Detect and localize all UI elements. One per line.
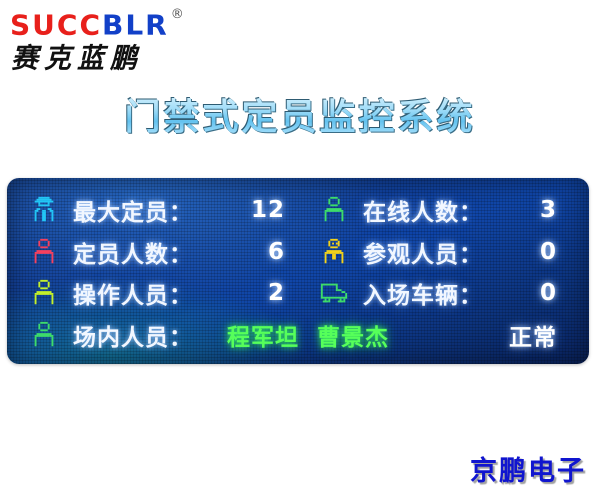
led-value: 6 (268, 239, 285, 265)
footer-company-name: 京鹏电子 (470, 449, 586, 488)
led-label: 定员人数： (73, 235, 193, 269)
led-value: 3 (540, 197, 557, 223)
led-cell-vehicle-count: 入场车辆： 0 (307, 274, 579, 312)
brand-wordmark-red: SUCC (10, 8, 102, 41)
person-icon (29, 320, 59, 350)
table-row: 定员人数： 6 参观人员： 0 (17, 233, 579, 271)
led-value: 12 (251, 197, 285, 223)
status-badge: 正常 (509, 318, 557, 352)
led-cell-visitor-count: 参观人员： 0 (307, 233, 579, 271)
led-cell-max-capacity: 最大定员： 12 (17, 191, 307, 229)
led-label: 在线人数： (363, 193, 483, 227)
table-row: 操作人员： 2 (17, 274, 579, 312)
table-row: 最大定员： 12 在线人数： 3 (17, 191, 579, 229)
page-title: 门禁式定员监控系统 (0, 88, 600, 140)
led-label: 场内人员： (73, 318, 193, 352)
led-value: 0 (540, 239, 557, 265)
person-icon (29, 237, 59, 267)
brand-wordmark: SUCCBLR® (8, 6, 238, 40)
led-value: 0 (540, 280, 557, 306)
led-cell-operator-count: 操作人员： 2 (17, 274, 307, 312)
truck-icon (319, 278, 349, 308)
led-cell-onsite-personnel: 场内人员： 程军坦 曹景杰 正常 (17, 316, 579, 354)
brand-logo: SUCCBLR® 赛克蓝鹏 (8, 6, 238, 78)
led-label: 参观人员： (363, 235, 483, 269)
led-value: 2 (268, 280, 285, 306)
led-label: 入场车辆： (363, 276, 483, 310)
led-cell-online-count: 在线人数： 3 (307, 191, 579, 229)
led-display-panel: 最大定员： 12 在线人数： 3 (7, 178, 589, 364)
list-item: 曹景杰 (317, 318, 389, 352)
list-item: 程军坦 (227, 318, 299, 352)
brand-chinese-name: 赛克蓝鹏 (8, 42, 238, 77)
onsite-names-list: 程军坦 曹景杰 (227, 318, 389, 352)
person-icon (319, 195, 349, 225)
table-row: 场内人员： 程军坦 曹景杰 正常 (17, 316, 579, 354)
person-icon (319, 237, 349, 267)
person-cap-icon (29, 195, 59, 225)
led-cell-quota-count: 定员人数： 6 (17, 233, 307, 271)
led-label: 操作人员： (73, 276, 193, 310)
led-label: 最大定员： (73, 193, 193, 227)
registered-trademark-icon: ® (171, 7, 184, 22)
person-icon (29, 278, 59, 308)
brand-wordmark-blue: BLR (102, 8, 169, 41)
led-rows-container: 最大定员： 12 在线人数： 3 (7, 178, 589, 364)
